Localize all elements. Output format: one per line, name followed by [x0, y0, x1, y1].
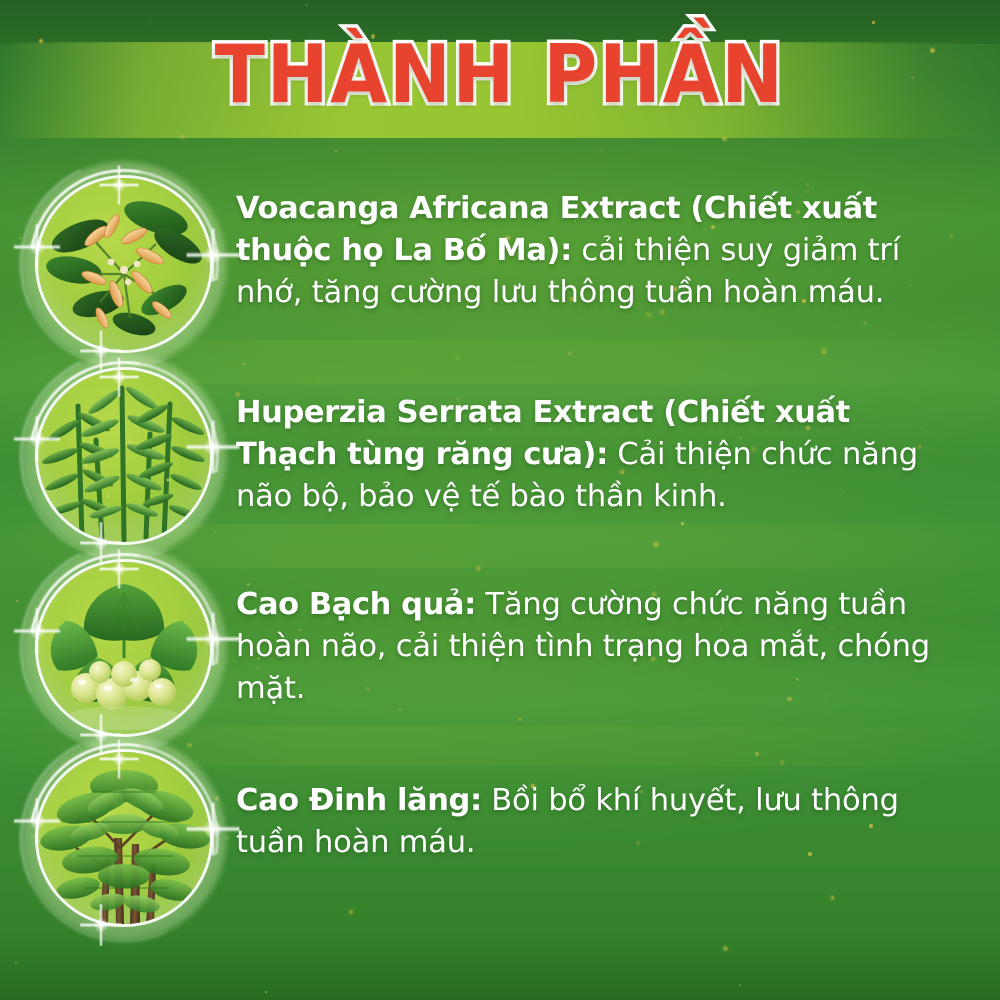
ingredient-image-ginkgo [38, 562, 210, 734]
ingredient-text-dinh-lang: Cao Đinh lăng: Bồi bổ khí huyết, lưu thô… [210, 752, 1000, 864]
ingredient-paragraph: Huperzia Serrata Extract (Chiết xuất Thạ… [236, 392, 948, 517]
ingredient-row-ginkgo: Cao Bạch quả: Tăng cường chức năng tuần … [0, 562, 1000, 734]
ingredient-image-dinh-lang [38, 752, 210, 924]
page-title: THÀNH PHẦN [0, 34, 1000, 116]
ingredient-row-huperzia: Huperzia Serrata Extract (Chiết xuất Thạ… [0, 370, 1000, 542]
ingredient-text-voacanga: Voacanga Africana Extract (Chiết xuất th… [210, 178, 1000, 313]
ingredient-name: Cao Bạch quả: [236, 587, 476, 622]
page-title-text: THÀNH PHẦN [215, 34, 785, 116]
ingredient-text-huperzia: Huperzia Serrata Extract (Chiết xuất Thạ… [210, 370, 1000, 517]
ingredient-name: Cao Đinh lăng: [236, 783, 482, 818]
ingredient-row-dinh-lang: Cao Đinh lăng: Bồi bổ khí huyết, lưu thô… [0, 752, 1000, 924]
ingredient-image-voacanga [38, 178, 210, 350]
badge-ring-arc-outer [0, 705, 257, 972]
ingredient-row-voacanga: Voacanga Africana Extract (Chiết xuất th… [0, 178, 1000, 350]
ingredient-image-huperzia [38, 370, 210, 542]
ingredients-poster: THÀNH PHẦN [0, 0, 1000, 1000]
ingredient-text-ginkgo: Cao Bạch quả: Tăng cường chức năng tuần … [210, 562, 1000, 709]
ingredient-paragraph: Cao Bạch quả: Tăng cường chức năng tuần … [236, 584, 948, 709]
ingredient-paragraph: Voacanga Africana Extract (Chiết xuất th… [236, 188, 948, 313]
ingredient-paragraph: Cao Đinh lăng: Bồi bổ khí huyết, lưu thô… [236, 780, 948, 864]
background-band-bottom [0, 940, 1000, 1000]
